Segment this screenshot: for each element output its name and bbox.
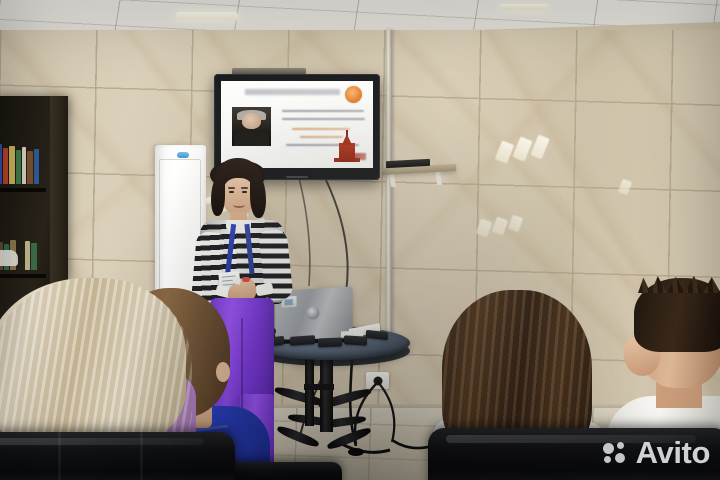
presenter-smile <box>233 202 245 208</box>
smartphone[interactable] <box>344 335 367 345</box>
smartphone[interactable] <box>318 338 342 348</box>
hp-logo-icon <box>306 306 319 320</box>
ear <box>216 362 230 382</box>
black-chair-back-center[interactable] <box>222 462 342 480</box>
chair-seam <box>140 432 143 480</box>
presenter-nail-polish <box>242 277 250 282</box>
chair-seam <box>58 432 61 480</box>
badge-text-line <box>222 280 233 282</box>
presenter-eyebrow-left <box>228 187 235 189</box>
table-pedestal-crossbar <box>304 384 334 390</box>
avito-watermark: Avito <box>603 437 710 468</box>
chair-highlight <box>0 438 204 445</box>
lanyard-strap-right <box>244 224 254 274</box>
presenter-hair-strand-left <box>211 176 225 216</box>
avito-watermark-text: Avito <box>636 437 710 468</box>
presenter-eye-left <box>229 191 234 193</box>
badge-text-line <box>222 275 236 278</box>
black-chair-back-left[interactable] <box>0 432 235 480</box>
table-pedestal <box>320 352 333 432</box>
four-dots-icon <box>603 442 629 464</box>
presenter-eyebrow-right <box>241 187 248 189</box>
presenter-eye-right <box>242 191 247 193</box>
photo-scene: Avito <box>0 0 720 480</box>
lanyard-strap-left <box>225 224 236 276</box>
